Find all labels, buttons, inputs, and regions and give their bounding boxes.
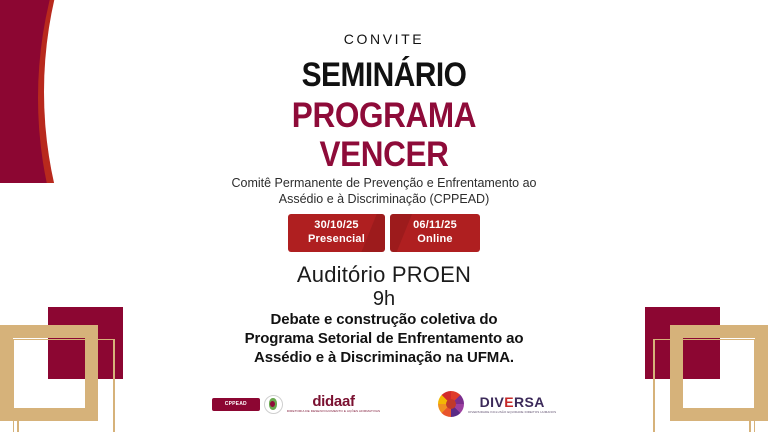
poster-content: CONVITE SEMINÁRIO PROGRAMA VENCER Comitê… [0,0,768,432]
diversa-mandala-icon [438,391,464,417]
time-label: 9h [0,288,768,311]
diversa-word-part2: E [504,394,514,410]
description-line-2: Programa Setorial de Enfrentamento ao [0,329,768,348]
diversa-word-part1: DIV [480,394,505,410]
page-title-vencer: VENCER [38,135,729,175]
didaaf-subtitle: DIRETORIA DE DESENVOLVIMENTO E AÇÕES AFI… [287,410,380,413]
cppead-pill-logo: CPPEAD [212,398,260,411]
diversa-wordmark: DIVERSA DIVERSIDADE INCLUSÃO EQUIDADE DI… [468,395,556,414]
page-title-programa: PROGRAMA [38,96,729,136]
committee-subtitle-line-2: Assédio e à Discriminação (CPPEAD) [0,192,768,208]
didaaf-word: didaaf [287,394,380,409]
kicker-label: CONVITE [0,31,768,47]
committee-subtitle-line-1: Comitê Permanente de Prevenção e Enfrent… [0,176,768,192]
description-text: Debate e construção coletiva do Programa… [0,310,768,367]
badge-mode: Presencial [288,233,385,247]
description-line-3: Assédio e à Discriminação na UFMA. [0,348,768,367]
logo-row: CPPEAD didaaf DIRETORIA DE DESENVOLVIMEN… [0,387,768,421]
venue-label: Auditório PROEN [0,262,768,288]
diversa-subtitle: DIVERSIDADE INCLUSÃO EQUIDADE DIREITOS H… [468,411,556,414]
badge-date: 30/10/25 [288,219,385,233]
description-line-1: Debate e construção coletiva do [0,310,768,329]
date-badge-presencial[interactable]: 30/10/25 Presencial [288,214,385,252]
invitation-poster: CONVITE SEMINÁRIO PROGRAMA VENCER Comitê… [0,0,768,432]
badge-date: 06/11/25 [390,219,480,233]
logo-didaaf: CPPEAD didaaf DIRETORIA DE DESENVOLVIMEN… [212,394,380,413]
committee-subtitle: Comitê Permanente de Prevenção e Enfrent… [0,176,768,207]
diversa-word-part3: RSA [514,394,545,410]
date-badge-online[interactable]: 06/11/25 Online [390,214,480,252]
didaaf-emblem-icon [264,395,283,414]
badge-mode: Online [390,233,480,247]
didaaf-wordmark: didaaf DIRETORIA DE DESENVOLVIMENTO E AÇ… [287,394,380,413]
logo-diversa: DIVERSA DIVERSIDADE INCLUSÃO EQUIDADE DI… [438,391,556,417]
date-badge-group: 30/10/25 Presencial 06/11/25 Online [0,214,768,252]
diversa-word: DIVERSA [468,395,556,409]
page-title-seminario: SEMINÁRIO [46,56,722,95]
